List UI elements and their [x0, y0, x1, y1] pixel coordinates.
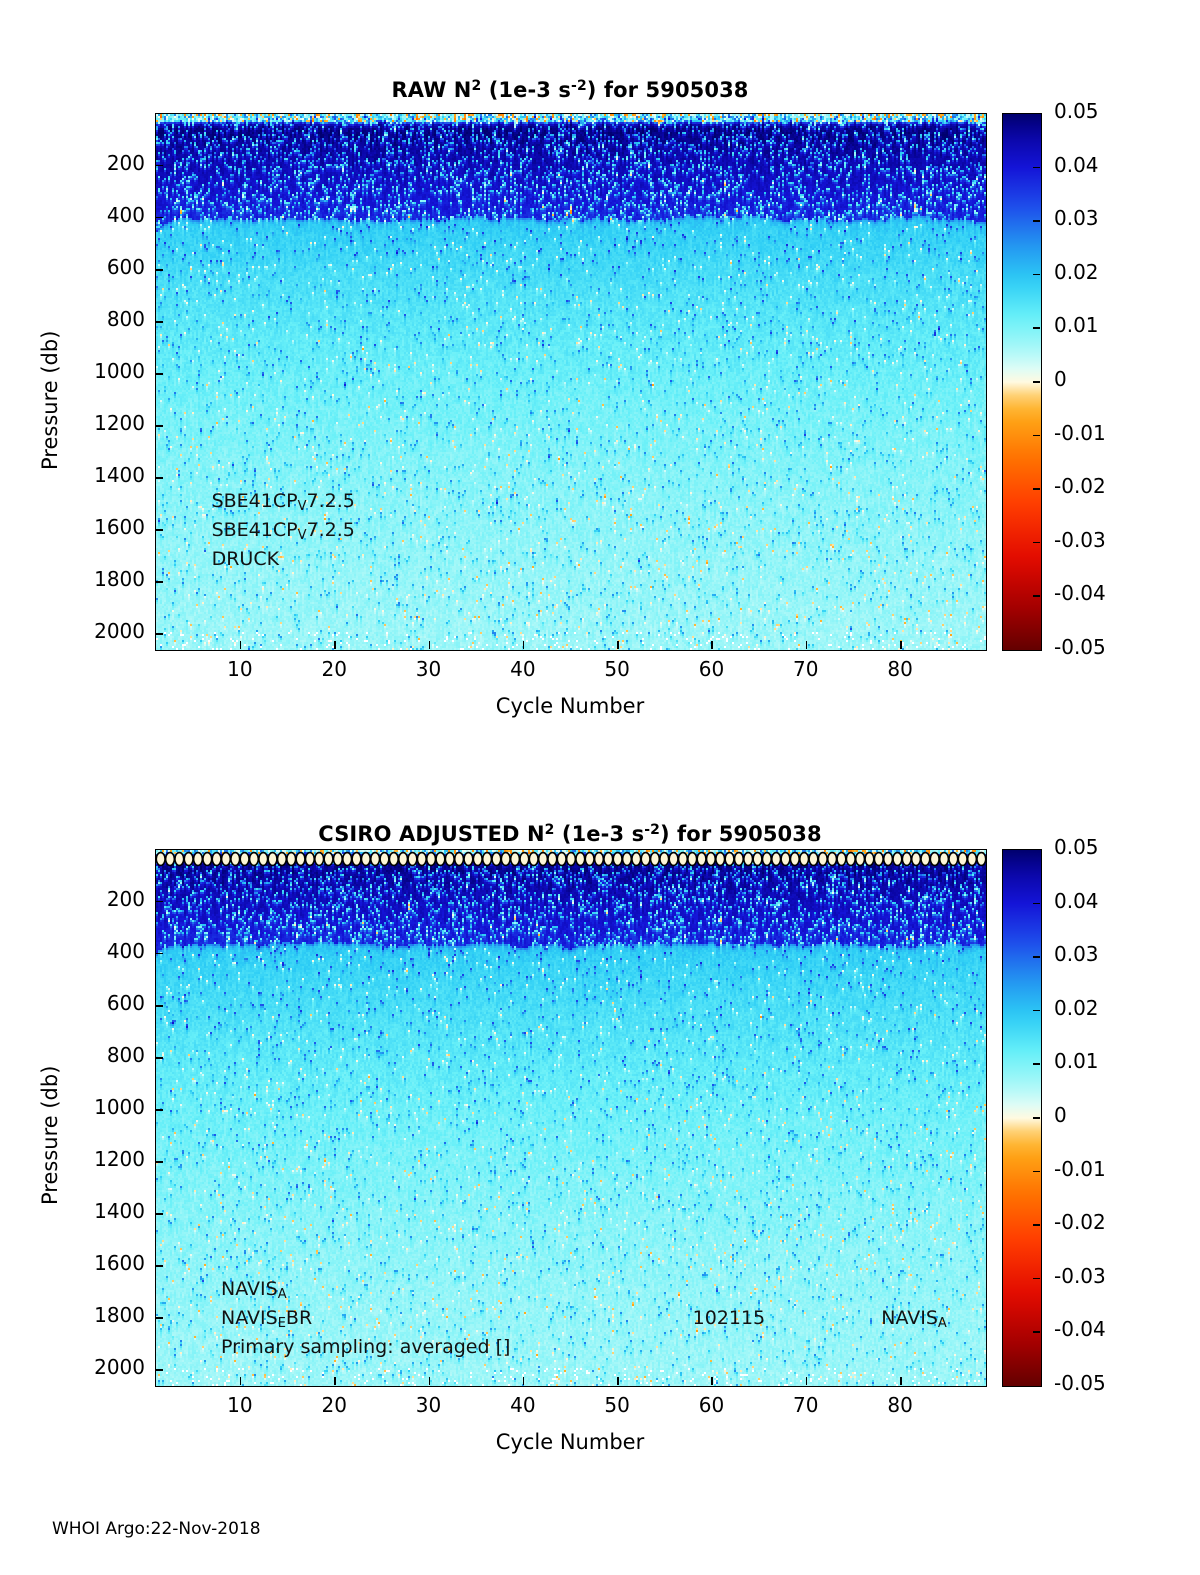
annotation-suffix: 7.2.5: [307, 519, 355, 541]
cycle-marker: [828, 853, 837, 866]
cycle-marker: [231, 853, 240, 866]
annotation-subscript: V: [298, 499, 307, 514]
y-tick-mark: [155, 1369, 163, 1370]
cycle-marker: [408, 853, 417, 866]
cycle-marker: [343, 853, 352, 866]
colorbar-tick-label: -0.04: [1054, 581, 1106, 605]
y-tick-label: 600: [57, 991, 145, 1015]
colorbar-tick-label: -0.02: [1054, 1210, 1106, 1234]
cycle-marker: [417, 853, 426, 866]
annotation-text: NAVIS: [221, 1307, 278, 1329]
annotation-text: 102115: [693, 1307, 766, 1329]
colorbar-tick-label: 0.03: [1054, 942, 1099, 966]
colorbar-tick-label: 0.03: [1054, 206, 1099, 230]
colorbar-tick-label: 0.05: [1054, 835, 1099, 859]
annotation-text: SBE41CP: [212, 490, 298, 512]
x-tick-label: 70: [766, 657, 846, 681]
y-tick-mark: [155, 1317, 163, 1318]
x-tick-label: 10: [200, 1393, 280, 1417]
y-tick-mark: [155, 529, 163, 530]
colorbar-tick-label: 0.01: [1054, 1049, 1099, 1073]
cycle-marker: [912, 853, 921, 866]
colorbar-tick-mark: [1033, 220, 1040, 222]
cycle-marker: [846, 853, 855, 866]
cycle-marker: [949, 853, 958, 866]
cycle-marker: [632, 853, 641, 866]
x-tick-label: 60: [671, 657, 751, 681]
annotation-subscript: A: [938, 1316, 947, 1331]
colorbar-tick-mark: [1033, 327, 1040, 329]
y-tick-mark: [155, 1005, 163, 1006]
y-tick-label: 1600: [57, 515, 145, 539]
x-tick-label: 20: [294, 657, 374, 681]
y-tick-label: 1800: [57, 567, 145, 591]
cycle-marker: [324, 853, 333, 866]
panel-adjusted-x-axis-label: Cycle Number: [155, 1430, 985, 1454]
colorbar-tick-label: 0.01: [1054, 313, 1099, 337]
cycle-marker: [548, 853, 557, 866]
cycle-marker: [884, 853, 893, 866]
panel-adjusted-title-end: ) for 5905038: [660, 822, 822, 846]
colorbar-tick-mark: [1033, 595, 1040, 597]
y-tick-label: 2000: [57, 619, 145, 643]
y-tick-label: 1200: [57, 1147, 145, 1171]
cycle-marker: [725, 853, 734, 866]
y-tick-label: 200: [57, 151, 145, 175]
colorbar-tick-label: 0.04: [1054, 889, 1099, 913]
y-tick-mark: [155, 321, 163, 322]
colorbar-tick-label: 0.05: [1054, 99, 1099, 123]
y-tick-mark: [155, 1057, 163, 1058]
colorbar-tick-mark: [1033, 1171, 1040, 1173]
cycle-marker: [371, 853, 380, 866]
cycle-marker: [511, 853, 520, 866]
cycle-marker: [501, 853, 510, 866]
cycle-marker: [305, 853, 314, 866]
colorbar-tick-mark: [1033, 1224, 1040, 1226]
y-tick-mark: [155, 1265, 163, 1266]
cycle-marker: [781, 853, 790, 866]
plot-annotation: SBE41CPV7.2.5: [212, 490, 355, 514]
cycle-marker: [800, 853, 809, 866]
cycle-marker: [203, 853, 212, 866]
cycle-marker: [483, 853, 492, 866]
colorbar-tick-mark: [1033, 1063, 1040, 1065]
cycle-marker: [902, 853, 911, 866]
cycle-marker: [865, 853, 874, 866]
cycle-marker: [837, 853, 846, 866]
cycle-marker: [697, 853, 706, 866]
cycle-marker: [651, 853, 660, 866]
cycle-marker: [744, 853, 753, 866]
cycle-marker: [436, 853, 445, 866]
cycle-marker: [557, 853, 566, 866]
colorbar-tick-label: -0.05: [1054, 635, 1106, 659]
colorbar-tick-mark: [1033, 1331, 1040, 1333]
panel-adjusted-title-sup1: 2: [545, 822, 555, 838]
cycle-marker: [930, 853, 939, 866]
x-tick-mark: [240, 641, 241, 649]
panel-raw-title-mid: (1e-3 s: [481, 78, 571, 102]
annotation-text: NAVIS: [221, 1278, 278, 1300]
colorbar-tick-label: 0: [1054, 1103, 1067, 1127]
x-tick-mark: [523, 1377, 524, 1385]
x-tick-mark: [900, 1377, 901, 1385]
cycle-marker: [427, 853, 436, 866]
cycle-marker: [874, 853, 883, 866]
cycle-marker: [688, 853, 697, 866]
cycle-marker: [772, 853, 781, 866]
cycle-marker: [595, 853, 604, 866]
cycle-marker: [166, 853, 175, 866]
colorbar-tick-mark: [1033, 274, 1040, 276]
y-tick-label: 200: [57, 887, 145, 911]
y-tick-mark: [155, 165, 163, 166]
cycle-marker: [352, 853, 361, 866]
cycle-marker: [706, 853, 715, 866]
cycle-marker: [809, 853, 818, 866]
cycle-marker: [268, 853, 277, 866]
cycle-marker: [222, 853, 231, 866]
colorbar-tick-mark: [1033, 956, 1040, 958]
cycle-marker: [753, 853, 762, 866]
cycle-marker: [716, 853, 725, 866]
cycle-marker: [669, 853, 678, 866]
x-tick-mark: [806, 1377, 807, 1385]
x-tick-mark: [334, 1377, 335, 1385]
x-tick-label: 30: [389, 657, 469, 681]
panel-adjusted-title-main: CSIRO ADJUSTED N: [318, 822, 544, 846]
colorbar-tick-label: -0.01: [1054, 1157, 1106, 1181]
y-tick-mark: [155, 1161, 163, 1162]
cycle-marker: [492, 853, 501, 866]
x-tick-label: 50: [577, 1393, 657, 1417]
cycle-marker-row: [156, 850, 986, 1386]
panel-raw-x-axis-label: Cycle Number: [155, 694, 985, 718]
cycle-marker: [296, 853, 305, 866]
x-tick-mark: [711, 1377, 712, 1385]
annotation-subscript: E: [278, 1316, 286, 1331]
cycle-marker: [455, 853, 464, 866]
y-tick-mark: [155, 477, 163, 478]
x-tick-mark: [429, 1377, 430, 1385]
colorbar-tick-label: -0.01: [1054, 421, 1106, 445]
plot-annotation: SBE41CPV7.2.5: [212, 519, 355, 543]
cycle-marker: [585, 853, 594, 866]
x-tick-mark: [711, 641, 712, 649]
cycle-marker: [762, 853, 771, 866]
x-tick-label: 40: [483, 1393, 563, 1417]
cycle-marker: [212, 853, 221, 866]
cycle-marker: [389, 853, 398, 866]
cycle-marker: [977, 853, 986, 866]
cycle-marker: [184, 853, 193, 866]
cycle-marker: [660, 853, 669, 866]
y-tick-label: 1200: [57, 411, 145, 435]
colorbar-tick-mark: [1033, 435, 1040, 437]
cycle-marker: [315, 853, 324, 866]
colorbar-tick-label: 0.02: [1054, 996, 1099, 1020]
panel-raw-title-end: ) for 5905038: [587, 78, 749, 102]
x-tick-mark: [806, 641, 807, 649]
colorbar-tick-label: 0.02: [1054, 260, 1099, 284]
cycle-marker: [287, 853, 296, 866]
y-tick-mark: [155, 425, 163, 426]
plot-annotation: NAVISA: [881, 1307, 947, 1331]
x-tick-label: 30: [389, 1393, 469, 1417]
colorbar-tick-mark: [1033, 903, 1040, 905]
cycle-marker: [259, 853, 268, 866]
y-tick-mark: [155, 581, 163, 582]
annotation-suffix: BR: [286, 1307, 312, 1329]
cycle-marker: [893, 853, 902, 866]
plot-annotation: Primary sampling: averaged []: [221, 1336, 510, 1358]
colorbar-tick-mark: [1033, 167, 1040, 169]
x-tick-mark: [523, 641, 524, 649]
y-tick-mark: [155, 901, 163, 902]
y-tick-label: 1400: [57, 1199, 145, 1223]
y-tick-mark: [155, 269, 163, 270]
cycle-marker: [473, 853, 482, 866]
y-tick-label: 1800: [57, 1303, 145, 1327]
colorbar-tick-label: -0.05: [1054, 1371, 1106, 1395]
cycle-marker: [278, 853, 287, 866]
y-tick-mark: [155, 373, 163, 374]
panel-raw-title-main: RAW N: [391, 78, 471, 102]
y-tick-mark: [155, 1109, 163, 1110]
cycle-marker: [818, 853, 827, 866]
cycle-marker: [380, 853, 389, 866]
colorbar-tick-label: -0.02: [1054, 474, 1106, 498]
y-tick-label: 1000: [57, 1095, 145, 1119]
colorbar-tick-mark: [1033, 381, 1040, 383]
colorbar-tick-mark: [1033, 1010, 1040, 1012]
annotation-subscript: V: [298, 528, 307, 543]
cycle-marker: [958, 853, 967, 866]
cycle-marker: [240, 853, 249, 866]
x-tick-mark: [240, 1377, 241, 1385]
x-tick-mark: [429, 641, 430, 649]
cycle-marker: [399, 853, 408, 866]
colorbar-tick-label: -0.04: [1054, 1317, 1106, 1341]
panel-adjusted-title-mid: (1e-3 s: [554, 822, 644, 846]
cycle-marker: [679, 853, 688, 866]
cycle-marker: [539, 853, 548, 866]
cycle-marker: [445, 853, 454, 866]
y-tick-label: 800: [57, 307, 145, 331]
plot-annotation: 102115: [693, 1307, 766, 1329]
colorbar-tick-mark: [1033, 542, 1040, 544]
x-tick-label: 80: [860, 1393, 940, 1417]
cycle-marker: [856, 853, 865, 866]
y-tick-label: 400: [57, 203, 145, 227]
panel-raw-y-axis-label: Pressure (db): [38, 331, 62, 470]
panel-adjusted-y-axis-label: Pressure (db): [38, 1066, 62, 1205]
annotation-text: NAVIS: [881, 1307, 938, 1329]
colorbar-tick-mark: [1033, 1117, 1040, 1119]
cycle-marker: [333, 853, 342, 866]
cycle-marker: [175, 853, 184, 866]
y-tick-label: 400: [57, 939, 145, 963]
y-tick-mark: [155, 217, 163, 218]
panel-adjusted-title: CSIRO ADJUSTED N2 (1e-3 s-2) for 5905038: [155, 822, 985, 846]
y-tick-label: 1600: [57, 1251, 145, 1275]
x-tick-mark: [617, 641, 618, 649]
cycle-marker: [790, 853, 799, 866]
x-tick-label: 60: [671, 1393, 751, 1417]
cycle-marker: [361, 853, 370, 866]
colorbar-tick-mark: [1033, 1278, 1040, 1280]
panel-raw-plot-area[interactable]: [155, 113, 987, 651]
x-tick-label: 10: [200, 657, 280, 681]
x-tick-label: 80: [860, 657, 940, 681]
panel-raw-title-sup1: 2: [471, 78, 481, 94]
cycle-marker: [529, 853, 538, 866]
annotation-suffix: 7.2.5: [307, 490, 355, 512]
plot-annotation: NAVISA: [221, 1278, 287, 1302]
cycle-marker: [576, 853, 585, 866]
y-tick-mark: [155, 953, 163, 954]
panel-adjusted-title-sup2: -2: [644, 822, 660, 838]
annotation-text: SBE41CP: [212, 519, 298, 541]
cycle-marker: [604, 853, 613, 866]
y-tick-label: 600: [57, 255, 145, 279]
plot-annotation: DRUCK: [212, 548, 279, 570]
x-tick-mark: [617, 1377, 618, 1385]
panel-raw-title-sup2: -2: [571, 78, 587, 94]
colorbar-tick-label: -0.03: [1054, 528, 1106, 552]
figure-footer: WHOI Argo:22-Nov-2018: [52, 1519, 261, 1539]
y-tick-mark: [155, 1213, 163, 1214]
plot-annotation: NAVISEBR: [221, 1307, 312, 1331]
cycle-marker: [623, 853, 632, 866]
y-tick-label: 2000: [57, 1355, 145, 1379]
cycle-marker: [613, 853, 622, 866]
y-tick-label: 800: [57, 1043, 145, 1067]
x-tick-mark: [900, 641, 901, 649]
panel-raw-title: RAW N2 (1e-3 s-2) for 5905038: [155, 78, 985, 102]
cycle-marker: [464, 853, 473, 866]
annotation-text: DRUCK: [212, 548, 279, 570]
x-tick-label: 70: [766, 1393, 846, 1417]
colorbar-tick-mark: [1033, 488, 1040, 490]
cycle-marker: [921, 853, 930, 866]
colorbar-tick-label: 0.04: [1054, 153, 1099, 177]
cycle-marker: [968, 853, 977, 866]
cycle-marker: [250, 853, 259, 866]
cycle-marker: [641, 853, 650, 866]
cycle-marker: [156, 853, 165, 866]
cycle-marker: [734, 853, 743, 866]
x-tick-mark: [334, 641, 335, 649]
x-tick-label: 50: [577, 657, 657, 681]
colorbar-tick-label: 0: [1054, 367, 1067, 391]
y-tick-label: 1000: [57, 359, 145, 383]
cycle-marker: [194, 853, 203, 866]
y-tick-label: 1400: [57, 463, 145, 487]
cycle-marker: [567, 853, 576, 866]
y-tick-mark: [155, 633, 163, 634]
colorbar-tick-label: -0.03: [1054, 1264, 1106, 1288]
annotation-text: Primary sampling: averaged []: [221, 1336, 510, 1358]
cycle-marker: [940, 853, 949, 866]
annotation-subscript: A: [278, 1287, 287, 1302]
x-tick-label: 20: [294, 1393, 374, 1417]
x-tick-label: 40: [483, 657, 563, 681]
cycle-marker: [520, 853, 529, 866]
